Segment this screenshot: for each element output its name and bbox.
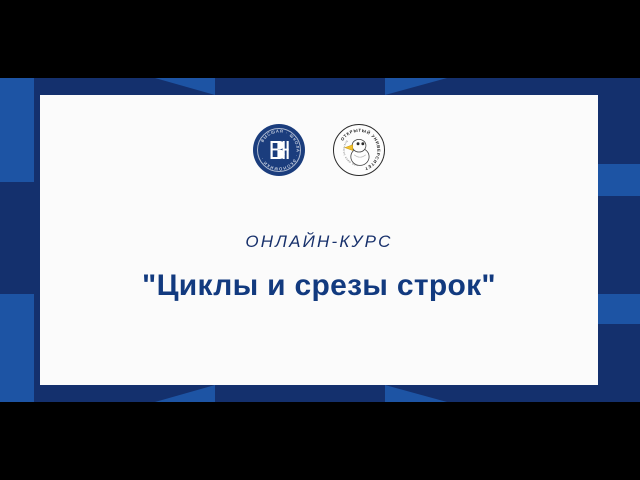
hse-logo-mark: ВЫСШАЯ · ШКОЛА · ЭКОНОМИКИ ·	[253, 124, 305, 176]
decor-triangle-bottom-right	[385, 385, 447, 402]
logo-row: ВЫСШАЯ · ШКОЛА · ЭКОНОМИКИ ·	[253, 124, 385, 176]
letterbox-top	[0, 0, 640, 78]
decor-block-left-top	[0, 78, 34, 182]
letterbox-bottom	[0, 402, 640, 480]
decor-block-right-3	[598, 196, 640, 294]
video-frame: ВЫСШАЯ · ШКОЛА · ЭКОНОМИКИ ·	[0, 0, 640, 480]
slide-card: ВЫСШАЯ · ШКОЛА · ЭКОНОМИКИ ·	[40, 95, 598, 385]
slide-kicker: ОНЛАЙН-КУРС	[245, 232, 392, 252]
decor-block-right-1	[598, 78, 640, 164]
hse-logo: ВЫСШАЯ · ШКОЛА · ЭКОНОМИКИ ·	[253, 124, 305, 176]
decor-triangle-top-right	[385, 78, 447, 95]
decor-block-right-5	[598, 324, 640, 402]
decor-block-right-4	[598, 294, 640, 324]
slide-headline: "Циклы и срезы строк"	[142, 269, 496, 303]
slide-canvas: ВЫСШАЯ · ШКОЛА · ЭКОНОМИКИ ·	[0, 78, 640, 402]
decor-triangle-bottom-left	[155, 385, 215, 402]
decor-block-left-middle	[0, 182, 34, 294]
decor-triangle-top-left	[155, 78, 215, 95]
decor-block-right-2	[598, 164, 640, 196]
decor-block-left-bottom	[0, 294, 34, 402]
open-university-logo: ОТКРЫТЫЙ УНИВЕРСИТЕТ HSE Open University	[333, 124, 385, 176]
open-university-logo-mark: ОТКРЫТЫЙ УНИВЕРСИТЕТ HSE Open University	[334, 124, 384, 176]
